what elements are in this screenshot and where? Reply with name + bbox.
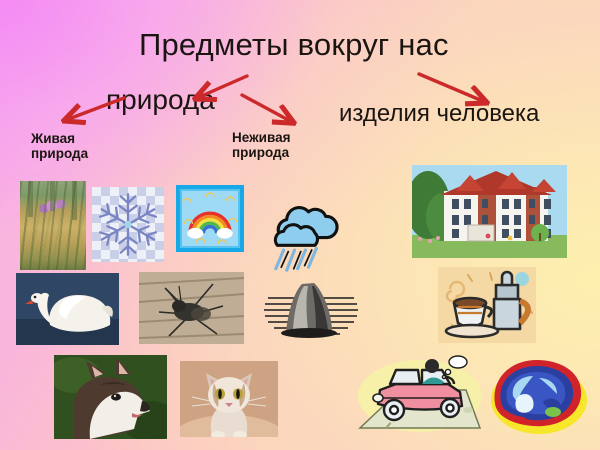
arrow-title-to-man-made xyxy=(413,70,503,116)
branch-label-nonliving-nature: Неживая природа xyxy=(232,130,290,160)
apartment-building-icon xyxy=(412,165,567,258)
house-photo xyxy=(412,165,567,258)
rain-cloud-clipart xyxy=(268,196,346,276)
snowflake-image xyxy=(92,187,164,262)
rock-sketch xyxy=(262,278,360,340)
presentation-slide: Предметы вокруг нас природа изделия чело… xyxy=(0,0,600,450)
backpack-clipart xyxy=(487,352,587,436)
snowflake-icon xyxy=(92,187,164,262)
insect-photo xyxy=(139,272,244,344)
coffee-pot-icon xyxy=(438,267,536,343)
kitten-photo xyxy=(180,361,278,437)
dog-icon xyxy=(54,355,167,439)
insect-icon xyxy=(139,272,244,344)
rock-icon xyxy=(262,278,360,340)
swan-photo xyxy=(16,273,119,345)
flowers-photo xyxy=(20,181,86,270)
car-icon xyxy=(356,348,484,433)
car-clipart xyxy=(356,348,484,433)
arrow-nature-to-living xyxy=(54,94,132,130)
branch-label-living-nature: Живая природа xyxy=(31,131,88,161)
rainbow-icon xyxy=(176,185,244,252)
rainbow-image xyxy=(176,185,244,252)
page-title: Предметы вокруг нас xyxy=(139,27,449,63)
cat-icon xyxy=(180,361,278,437)
arrow-nature-to-nonliving xyxy=(236,92,310,134)
backpack-icon xyxy=(487,352,587,436)
coffee-set-clipart xyxy=(438,267,536,343)
husky-dog-photo xyxy=(54,355,167,439)
swan-icon xyxy=(16,273,119,345)
rain-cloud-icon xyxy=(268,196,346,276)
